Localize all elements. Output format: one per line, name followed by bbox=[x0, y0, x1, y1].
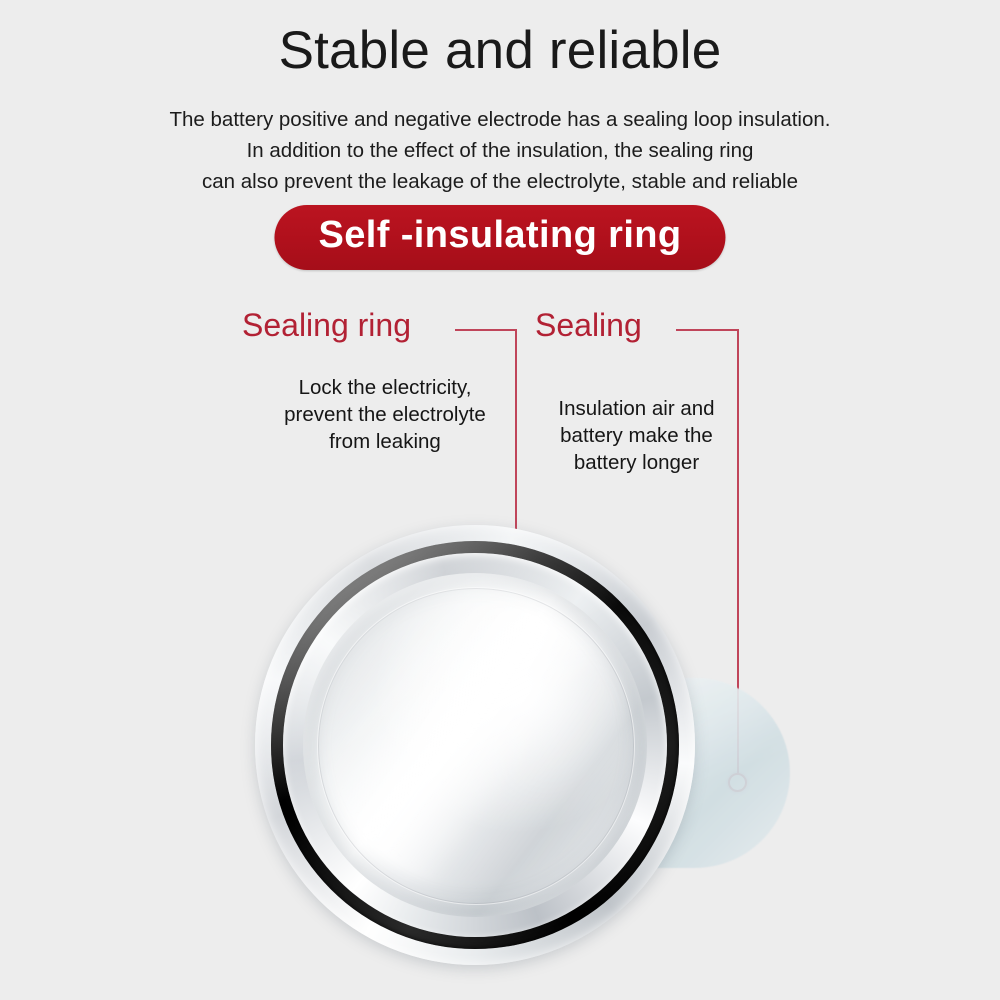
page-title: Stable and reliable bbox=[0, 22, 1000, 79]
callout-body-sealing-line-3: battery longer bbox=[529, 449, 744, 476]
callout-body-sealing-line-2: battery make the bbox=[529, 422, 744, 449]
description-block: The battery positive and negative electr… bbox=[0, 104, 1000, 197]
callout-body-sealing: Insulation air and battery make the batt… bbox=[529, 395, 744, 476]
battery-outer-rim bbox=[255, 525, 695, 965]
callout-label-sealing-ring: Sealing ring bbox=[242, 308, 411, 343]
infographic-page: Stable and reliable The battery positive… bbox=[0, 0, 1000, 1000]
callout-body-sealing-ring-line-1: Lock the electricity, bbox=[251, 374, 519, 401]
callout-body-sealing-ring: Lock the electricity, prevent the electr… bbox=[251, 374, 519, 455]
leader-segment-horizontal bbox=[455, 329, 517, 331]
battery-face bbox=[303, 573, 647, 917]
self-insulating-ring-banner: Self -insulating ring bbox=[274, 205, 725, 270]
description-line-2: In addition to the effect of the insulat… bbox=[0, 135, 1000, 166]
battery-inner-bevel bbox=[283, 553, 667, 937]
battery-face-ring bbox=[317, 587, 635, 905]
banner-label: Self -insulating ring bbox=[318, 214, 681, 258]
callout-body-sealing-line-1: Insulation air and bbox=[529, 395, 744, 422]
leader-segment-horizontal bbox=[676, 329, 739, 331]
callout-label-sealing: Sealing bbox=[535, 308, 642, 343]
description-line-1: The battery positive and negative electr… bbox=[0, 104, 1000, 135]
battery-sealing-ring bbox=[271, 541, 679, 949]
callout-body-sealing-ring-line-2: prevent the electrolyte bbox=[251, 401, 519, 428]
coin-cell-battery-image bbox=[0, 500, 1000, 1000]
callout-body-sealing-ring-line-3: from leaking bbox=[251, 428, 519, 455]
description-line-3: can also prevent the leakage of the elec… bbox=[0, 166, 1000, 197]
